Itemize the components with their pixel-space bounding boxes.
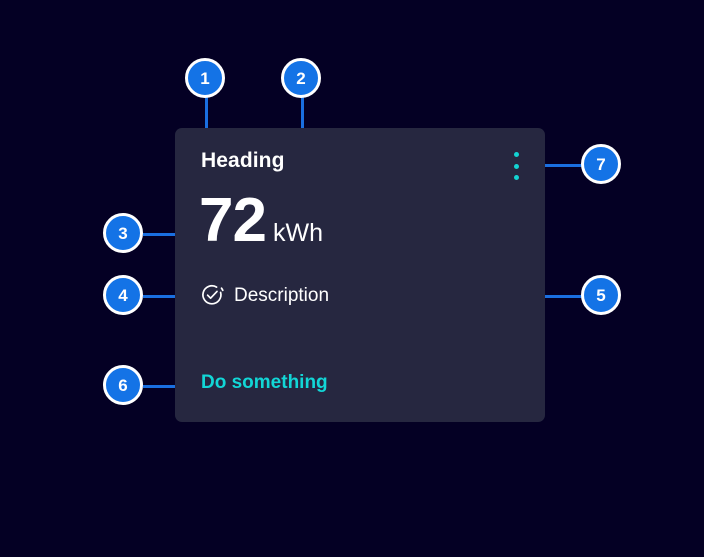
metric-value: 72 xyxy=(199,190,266,252)
more-dot-middle xyxy=(514,164,519,169)
callout-badge-2: 3 xyxy=(103,213,143,253)
callout-badge-5: 5 xyxy=(581,275,621,315)
checkmark-circle-icon xyxy=(200,283,224,307)
more-dot-bottom xyxy=(514,175,519,180)
more-dot-top xyxy=(514,152,519,157)
annotation-canvas: Heading 72 kWh Description Do something … xyxy=(0,0,704,557)
description-text: Description xyxy=(234,286,329,305)
metric-unit: kWh xyxy=(273,221,323,246)
callout-badge-4: 4 xyxy=(103,275,143,315)
card-heading: Heading xyxy=(201,150,285,171)
callout-badge-1: 1 xyxy=(185,58,225,98)
callout-badge-3: 2 xyxy=(281,58,321,98)
more-vertical-icon[interactable] xyxy=(509,152,523,180)
callout-badge-7: 7 xyxy=(581,144,621,184)
description-row: Description xyxy=(200,283,329,307)
metric-row: 72 kWh xyxy=(199,190,323,252)
callout-badge-6: 6 xyxy=(103,365,143,405)
metric-card: Heading 72 kWh Description Do something xyxy=(175,128,545,422)
do-something-link[interactable]: Do something xyxy=(201,373,328,392)
